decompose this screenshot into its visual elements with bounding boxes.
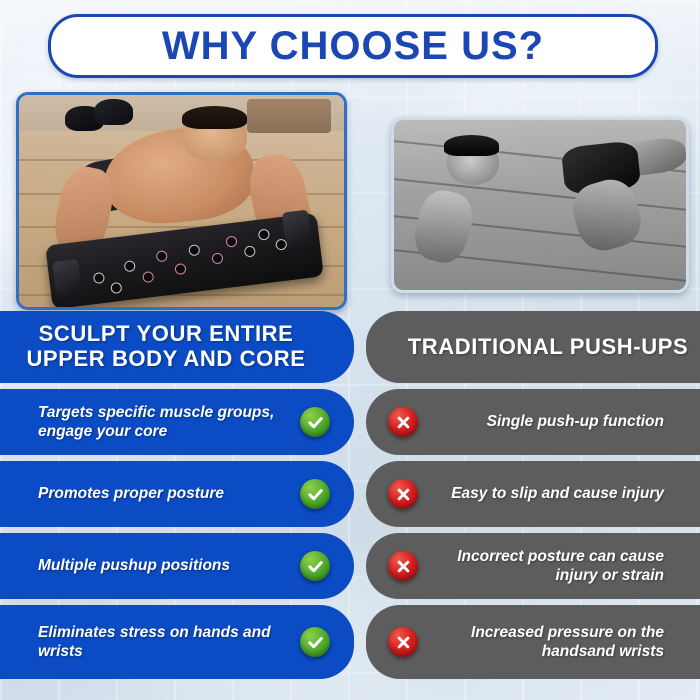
- cross-icon: [388, 479, 418, 509]
- drawback-row[interactable]: Single push-up function: [366, 389, 700, 455]
- benefit-row[interactable]: Promotes proper posture: [0, 461, 354, 527]
- drawback-row-text: Single push-up function: [418, 412, 700, 431]
- benefit-row-text: Multiple pushup positions: [0, 556, 300, 575]
- benefit-row-text: Promotes proper posture: [0, 484, 300, 503]
- cross-icon: [388, 627, 418, 657]
- benefit-row[interactable]: Targets specific muscle groups, engage y…: [0, 389, 354, 455]
- page-title-box: WHY CHOOSE US?: [48, 14, 658, 78]
- infographic-canvas: WHY CHOOSE US?: [0, 0, 700, 700]
- left-photo-hair: [182, 106, 247, 129]
- cross-icon: [388, 407, 418, 437]
- benefits-column-header: SCULPT YOUR ENTIRE UPPER BODY AND CORE: [0, 311, 354, 383]
- benefit-row[interactable]: Eliminates stress on hands and wrists: [0, 605, 354, 679]
- page-title: WHY CHOOSE US?: [162, 26, 544, 66]
- right-photo-scene: [394, 120, 686, 290]
- check-icon: [300, 479, 330, 509]
- drawback-row[interactable]: Incorrect posture can cause injury or st…: [366, 533, 700, 599]
- left-photo-scene: [19, 95, 344, 307]
- benefit-row[interactable]: Multiple pushup positions: [0, 533, 354, 599]
- drawbacks-column: TRADITIONAL PUSH-UPS Single push-up func…: [366, 311, 700, 685]
- left-photo-shoe: [94, 99, 133, 124]
- check-icon: [300, 551, 330, 581]
- drawback-row-text: Increased pressure on the handsand wrist…: [418, 623, 700, 662]
- drawback-row[interactable]: Easy to slip and cause injury: [366, 461, 700, 527]
- drawback-row-text: Easy to slip and cause injury: [418, 484, 700, 503]
- drawback-row[interactable]: Increased pressure on the handsand wrist…: [366, 605, 700, 679]
- left-product-photo: [16, 92, 347, 310]
- drawbacks-header-label: TRADITIONAL PUSH-UPS: [378, 335, 700, 360]
- drawbacks-column-header: TRADITIONAL PUSH-UPS: [366, 311, 700, 383]
- right-comparison-photo: [391, 117, 689, 293]
- check-icon: [300, 407, 330, 437]
- right-photo-arm: [410, 186, 478, 268]
- cross-icon: [388, 551, 418, 581]
- right-photo-hair: [444, 135, 499, 155]
- left-photo-furniture: [247, 99, 332, 133]
- benefit-row-text: Targets specific muscle groups, engage y…: [0, 403, 300, 442]
- benefits-header-label: SCULPT YOUR ENTIRE UPPER BODY AND CORE: [0, 322, 354, 371]
- benefit-row-text: Eliminates stress on hands and wrists: [0, 623, 300, 662]
- benefits-column: SCULPT YOUR ENTIRE UPPER BODY AND CORE T…: [0, 311, 354, 685]
- drawback-row-text: Incorrect posture can cause injury or st…: [418, 547, 700, 586]
- check-icon: [300, 627, 330, 657]
